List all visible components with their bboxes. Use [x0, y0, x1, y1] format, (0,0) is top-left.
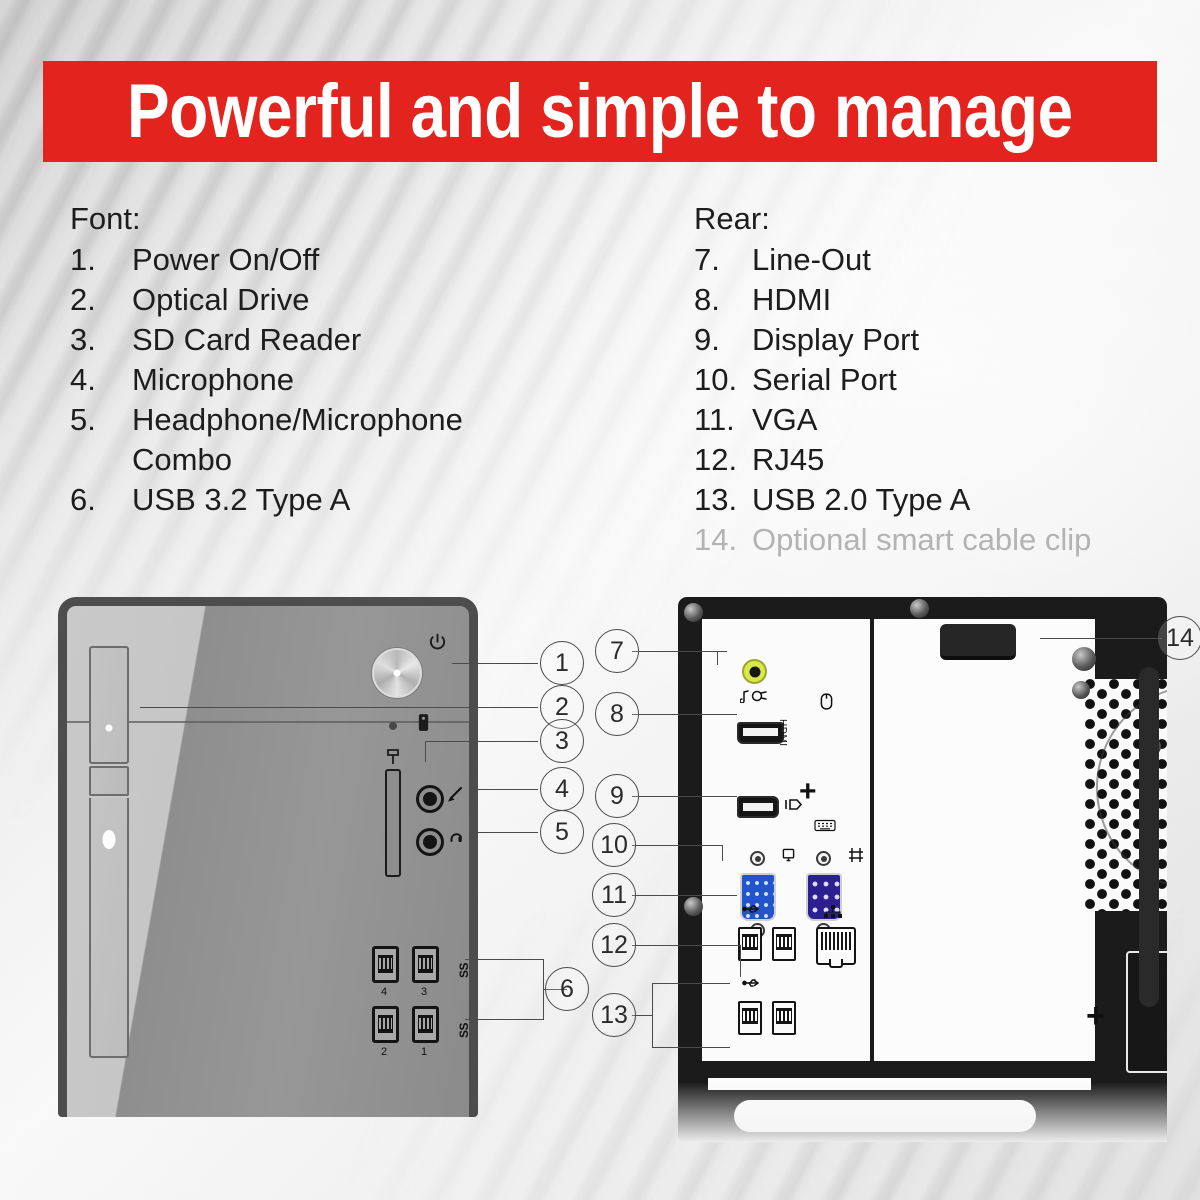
leader-line-13-top — [652, 983, 730, 984]
usb-port-3-label: 3 — [421, 986, 427, 998]
front-item-3-number: 3. — [70, 320, 132, 360]
front-item-6-number: 6. — [70, 480, 132, 520]
leader-line-13-bottom — [652, 1047, 730, 1048]
rear-chassis-body: HDMI + — [678, 597, 1167, 1142]
usb-symbol-icon-bottom — [742, 977, 762, 992]
leader-line-11 — [632, 895, 737, 896]
rear-item-7-label: Line-Out — [752, 240, 1164, 280]
usb-port-1[interactable] — [412, 1006, 439, 1043]
chassis-screw-left-lower — [684, 897, 703, 916]
leader-line-7-drop — [717, 651, 718, 665]
thumbscrew-top-right[interactable] — [1072, 647, 1096, 671]
front-item-2-number: 2. — [70, 280, 132, 320]
callout-8: 8 — [595, 692, 639, 736]
rear-list-item-9: 9. Display Port — [694, 320, 1164, 360]
front-list-item-5: 5. Headphone/Microphone — [70, 400, 630, 440]
thumbscrew-top-right-2[interactable] — [1072, 681, 1090, 699]
leader-bracket-13 — [652, 983, 653, 1048]
hdmi-label: HDMI — [777, 719, 788, 747]
leader-line-10-drop — [722, 845, 723, 861]
leader-line-12 — [632, 945, 740, 946]
front-item-5-continuation: Combo — [70, 440, 630, 480]
io-shield-panel: HDMI + — [702, 619, 870, 1061]
leader-line-12-drop — [740, 945, 741, 977]
front-item-1-label: Power On/Off — [132, 240, 630, 280]
front-item-6-label: USB 3.2 Type A — [132, 480, 630, 520]
rear-list-item-13: 13. USB 2.0 Type A — [694, 480, 1164, 520]
callout-11: 11 — [592, 873, 636, 917]
leader-line-7 — [632, 651, 727, 652]
rear-spec-list: Rear: 7. Line-Out 8. HDMI 9. Display Por… — [694, 198, 1164, 560]
rear-item-9-number: 9. — [694, 320, 752, 360]
alignment-plus-bottom: + — [1086, 999, 1106, 1033]
rear-item-12-label: RJ45 — [752, 440, 1164, 480]
chassis-screw-top-center — [910, 599, 929, 618]
rear-item-7-number: 7. — [694, 240, 752, 280]
callout-7: 7 — [595, 629, 639, 673]
rear-usb-port-1[interactable] — [738, 927, 762, 961]
leader-line-3-drop — [425, 741, 426, 762]
microphone-icon — [448, 786, 464, 807]
usb-port-2-label: 2 — [381, 1046, 387, 1058]
front-item-5-number: 5. — [70, 400, 132, 440]
headphone-jack[interactable] — [416, 828, 444, 856]
power-symbol-icon — [427, 632, 448, 657]
leader-line-5 — [470, 832, 538, 833]
callout-5: 5 — [540, 810, 584, 854]
front-list-item-2: 2. Optical Drive — [70, 280, 630, 320]
rear-item-10-label: Serial Port — [752, 360, 1164, 400]
line-out-icon — [740, 689, 770, 706]
callout-13: 13 — [592, 993, 636, 1037]
leader-line-3 — [425, 741, 538, 742]
callout-4: 4 — [540, 767, 584, 811]
leader-line-9 — [632, 796, 737, 797]
rear-list-item-11: 11. VGA — [694, 400, 1164, 440]
rear-item-13-number: 13. — [694, 480, 752, 520]
leader-line-1 — [452, 663, 538, 664]
rear-panel-illustration: HDMI + — [678, 597, 1167, 1142]
network-icon — [824, 905, 842, 922]
hard-drive-icon — [417, 714, 430, 734]
leader-line-2 — [140, 707, 538, 708]
rear-list-item-8: 8. HDMI — [694, 280, 1164, 320]
mouse-icon — [820, 693, 833, 713]
sd-card-icon — [383, 748, 403, 766]
headset-icon — [448, 829, 464, 850]
optical-drive-bay-upper — [89, 646, 129, 764]
front-item-4-label: Microphone — [132, 360, 630, 400]
usb-port-4-label: 4 — [381, 986, 387, 998]
leader-line-4 — [470, 789, 538, 790]
alignment-plus-top: + — [799, 777, 817, 807]
callout-14: 14 — [1158, 616, 1200, 660]
rear-item-8-label: HDMI — [752, 280, 1164, 320]
rear-item-14-number: 14. — [694, 520, 752, 560]
rear-item-8-number: 8. — [694, 280, 752, 320]
front-list-item-1: 1. Power On/Off — [70, 240, 630, 280]
rear-item-13-label: USB 2.0 Type A — [752, 480, 1164, 520]
front-chassis-body: 4 3 SS 2 1 SS — [58, 597, 478, 1117]
callout-12: 12 — [592, 923, 636, 967]
rj45-ethernet-port[interactable] — [816, 927, 856, 965]
usb-port-1-label: 1 — [421, 1046, 427, 1058]
front-list-item-4: 4. Microphone — [70, 360, 630, 400]
rear-chassis-edge — [1139, 667, 1159, 1007]
rear-item-10-number: 10. — [694, 360, 752, 400]
optical-drive-bay-gap — [89, 766, 129, 796]
leader-line-14 — [1040, 638, 1162, 639]
vga-screw-top — [750, 851, 765, 866]
keyboard-icon — [814, 819, 836, 835]
callout-6: 6 — [545, 967, 589, 1011]
front-item-4-number: 4. — [70, 360, 132, 400]
power-button[interactable] — [372, 648, 422, 698]
callout-3: 3 — [540, 719, 584, 763]
rear-list-item-12: 12. RJ45 — [694, 440, 1164, 480]
usb-port-4[interactable] — [372, 946, 399, 983]
front-item-3-label: SD Card Reader — [132, 320, 630, 360]
displayport-port[interactable] — [737, 796, 779, 818]
rear-list-item-10: 10. Serial Port — [694, 360, 1164, 400]
rear-lower-rail — [708, 1078, 1091, 1090]
expansion-slot-opening — [734, 1100, 1036, 1132]
callout-9: 9 — [595, 774, 639, 818]
callout-10: 10 — [592, 823, 636, 867]
monitor-icon — [782, 848, 795, 866]
line-out-jack[interactable] — [742, 659, 767, 684]
rear-list-item-14: 14. Optional smart cable clip — [694, 520, 1164, 560]
front-item-2-label: Optical Drive — [132, 280, 630, 320]
leader-line-8 — [632, 714, 737, 715]
front-item-5-label: Headphone/Microphone — [132, 400, 630, 440]
leader-line-6-top — [465, 959, 543, 960]
rear-item-9-label: Display Port — [752, 320, 1164, 360]
rear-list-heading: Rear: — [694, 198, 1164, 240]
front-panel-illustration: 4 3 SS 2 1 SS — [58, 597, 478, 1117]
optical-drive-bay-lower — [89, 798, 129, 1058]
rear-usb-port-2[interactable] — [772, 927, 796, 961]
rear-usb-port-4[interactable] — [772, 1001, 796, 1035]
callout-1: 1 — [540, 641, 584, 685]
usb-port-2[interactable] — [372, 1006, 399, 1043]
front-list-item-6: 6. USB 3.2 Type A — [70, 480, 630, 520]
rear-item-14-label: Optional smart cable clip — [752, 520, 1164, 560]
sd-card-slot[interactable] — [385, 769, 401, 877]
smart-cable-clip[interactable] — [940, 624, 1016, 660]
page-title: Powerful and simple to manage — [127, 74, 1073, 150]
rear-item-11-number: 11. — [694, 400, 752, 440]
serial-screw-top — [816, 851, 831, 866]
front-list-heading: Font: — [70, 198, 630, 240]
front-spec-list: Font: 1. Power On/Off 2. Optical Drive 3… — [70, 198, 630, 520]
serial-connector-icon — [848, 847, 864, 866]
usb-port-3[interactable] — [412, 946, 439, 983]
usb-symbol-icon-top — [742, 903, 762, 918]
title-banner: Powerful and simple to manage — [43, 61, 1157, 162]
leader-line-10 — [632, 845, 722, 846]
front-list-item-3: 3. SD Card Reader — [70, 320, 630, 360]
hdd-activity-led — [389, 722, 397, 730]
rear-usb-port-3[interactable] — [738, 1001, 762, 1035]
rear-side-panel: + — [874, 619, 1095, 1061]
usb-superspeed-mark-bottom: SS — [457, 1023, 471, 1038]
rear-item-11-label: VGA — [752, 400, 1164, 440]
rear-list-item-7: 7. Line-Out — [694, 240, 1164, 280]
rear-item-12-number: 12. — [694, 440, 752, 480]
front-item-1-number: 1. — [70, 240, 132, 280]
microphone-jack[interactable] — [416, 785, 444, 813]
leader-line-6-bottom — [465, 1019, 543, 1020]
usb-superspeed-mark-top: SS — [457, 963, 471, 978]
chassis-screw-top-left — [684, 603, 703, 622]
